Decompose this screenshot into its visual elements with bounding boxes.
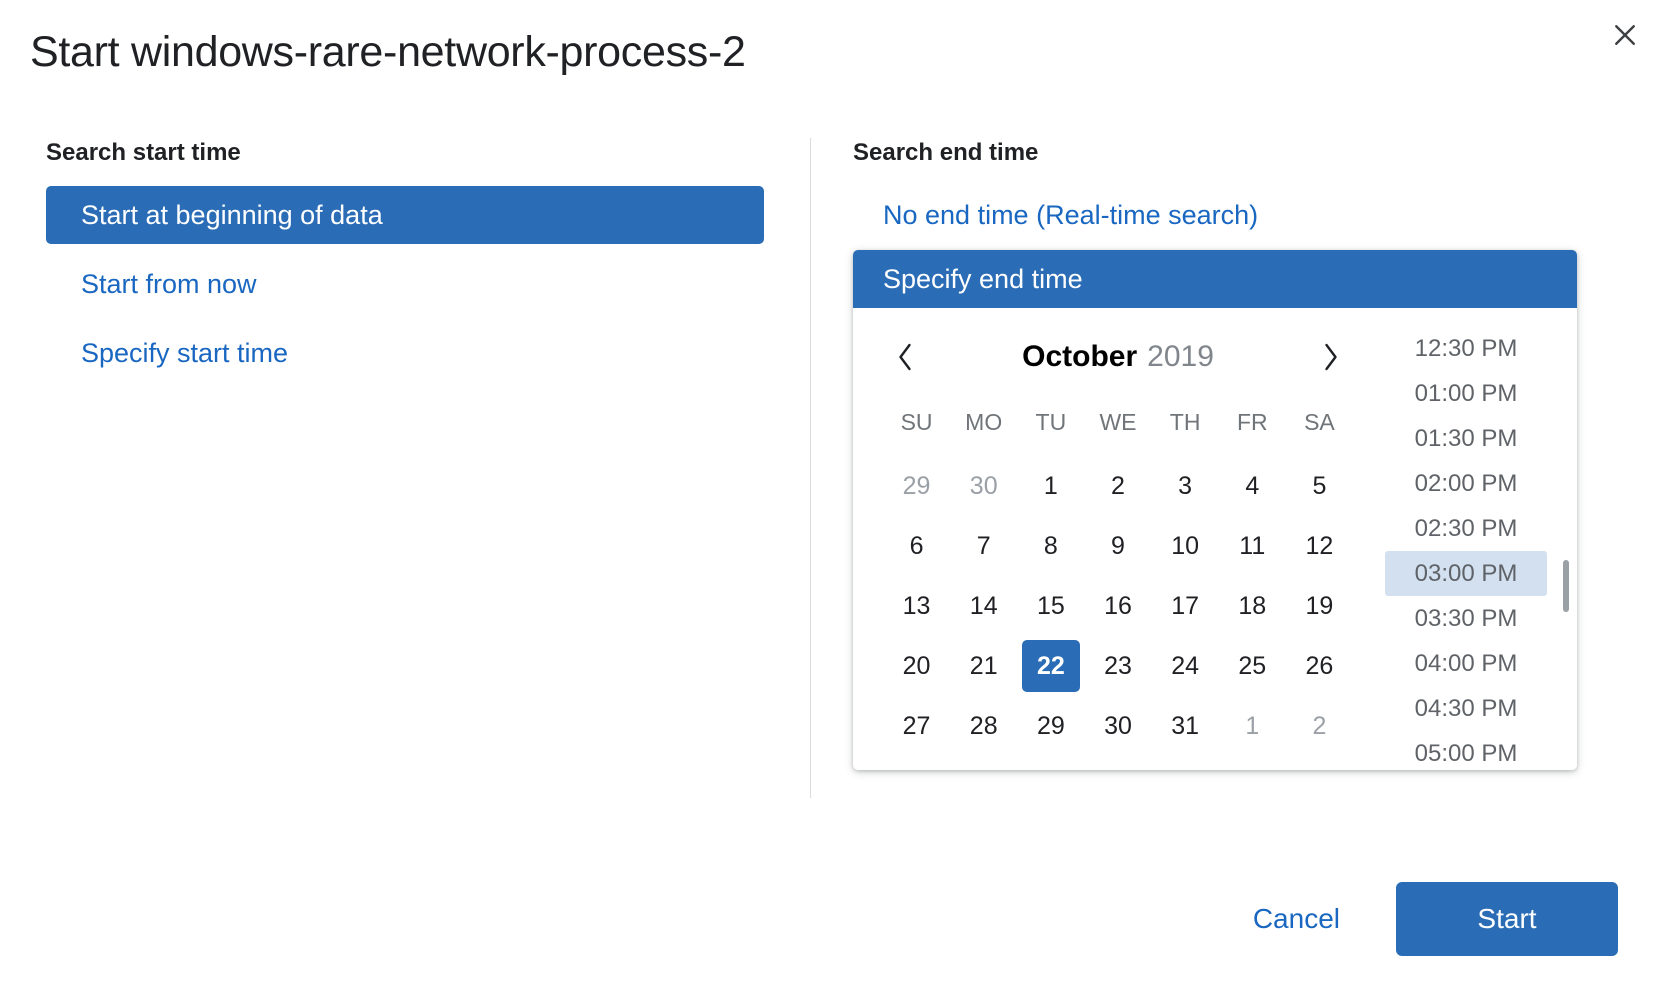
calendar-cell: 5 — [1286, 456, 1353, 516]
end-time-picker-card: Specify end time October2019 — [853, 250, 1577, 770]
search-start-time-heading: Search start time — [46, 138, 764, 168]
start-time-option-list: Start at beginning of data Start from no… — [46, 186, 764, 382]
calendar-day-29[interactable]: 29 — [888, 460, 946, 512]
calendar-cell: 17 — [1152, 576, 1219, 636]
calendar-day-31[interactable]: 31 — [1156, 700, 1214, 752]
calendar-day-26[interactable]: 26 — [1290, 640, 1348, 692]
chevron-left-icon[interactable] — [883, 335, 927, 379]
search-end-time-heading: Search end time — [853, 138, 1620, 168]
dialog-columns: Search start time Start at beginning of … — [0, 138, 1666, 818]
calendar-cell: 13 — [883, 576, 950, 636]
calendar-cell: 14 — [950, 576, 1017, 636]
calendar-day-6[interactable]: 6 — [888, 520, 946, 572]
time-list-panel: 12:30 PM01:00 PM01:30 PM02:00 PM02:30 PM… — [1367, 308, 1577, 770]
calendar-day-22[interactable]: 22 — [1022, 640, 1080, 692]
end-option-specify-end-time[interactable]: Specify end time — [853, 250, 1577, 308]
calendar-cell: 18 — [1219, 576, 1286, 636]
calendar-cell: 22 — [1017, 636, 1084, 696]
calendar-day-30[interactable]: 30 — [955, 460, 1013, 512]
calendar-month: October — [1022, 340, 1137, 373]
calendar-weekday-tu: TU — [1017, 394, 1084, 450]
calendar-cell: 8 — [1017, 516, 1084, 576]
calendar-cell: 25 — [1219, 636, 1286, 696]
calendar-weekday-sa: SA — [1286, 394, 1353, 450]
calendar-day-18[interactable]: 18 — [1223, 580, 1281, 632]
calendar-day-16[interactable]: 16 — [1089, 580, 1147, 632]
calendar-nav: October2019 — [883, 326, 1353, 388]
calendar-cell: 23 — [1084, 636, 1151, 696]
search-start-time-section: Search start time Start at beginning of … — [0, 138, 810, 818]
end-option-no-end-time[interactable]: No end time (Real-time search) — [853, 186, 1620, 244]
calendar-cell: 9 — [1084, 516, 1151, 576]
calendar-cell: 16 — [1084, 576, 1151, 636]
time-option-03-30-pm[interactable]: 03:30 PM — [1385, 596, 1547, 641]
calendar-day-2[interactable]: 2 — [1089, 460, 1147, 512]
calendar-cell: 11 — [1219, 516, 1286, 576]
calendar-cell: 29 — [883, 456, 950, 516]
calendar-weekday-row: SUMOTUWETHFRSA — [883, 394, 1353, 450]
calendar-cell: 26 — [1286, 636, 1353, 696]
calendar-day-28[interactable]: 28 — [955, 700, 1013, 752]
calendar-cell: 12 — [1286, 516, 1353, 576]
calendar-month-year: October2019 — [927, 337, 1309, 377]
calendar-weekday-th: TH — [1152, 394, 1219, 450]
chevron-right-icon[interactable] — [1309, 335, 1353, 379]
start-option-from-now[interactable]: Start from now — [46, 255, 764, 313]
calendar-day-4[interactable]: 4 — [1223, 460, 1281, 512]
close-icon[interactable] — [1602, 12, 1648, 58]
calendar-cell: 2 — [1084, 456, 1151, 516]
calendar-cell: 24 — [1152, 636, 1219, 696]
calendar-cell: 30 — [950, 456, 1017, 516]
calendar-day-20[interactable]: 20 — [888, 640, 946, 692]
calendar-year: 2019 — [1147, 340, 1214, 373]
calendar-day-grid: 2930123456789101112131415161718192021222… — [883, 456, 1353, 756]
calendar-cell: 1 — [1017, 456, 1084, 516]
calendar-day-5[interactable]: 5 — [1290, 460, 1348, 512]
calendar-day-10[interactable]: 10 — [1156, 520, 1214, 572]
calendar-cell: 3 — [1152, 456, 1219, 516]
picker-body: October2019 SUMOTUWETHFRSA 2930123456789… — [853, 308, 1577, 770]
calendar-cell: 2 — [1286, 696, 1353, 756]
calendar-day-1[interactable]: 1 — [1223, 700, 1281, 752]
time-option-02-30-pm[interactable]: 02:30 PM — [1385, 506, 1547, 551]
calendar-day-14[interactable]: 14 — [955, 580, 1013, 632]
start-button[interactable]: Start — [1396, 882, 1618, 956]
calendar-weekday-fr: FR — [1219, 394, 1286, 450]
calendar-cell: 10 — [1152, 516, 1219, 576]
time-option-05-00-pm[interactable]: 05:00 PM — [1385, 731, 1547, 770]
calendar-day-9[interactable]: 9 — [1089, 520, 1147, 572]
calendar-weekday-mo: MO — [950, 394, 1017, 450]
calendar-day-15[interactable]: 15 — [1022, 580, 1080, 632]
calendar-day-19[interactable]: 19 — [1290, 580, 1348, 632]
calendar: October2019 SUMOTUWETHFRSA 2930123456789… — [853, 308, 1367, 770]
calendar-cell: 6 — [883, 516, 950, 576]
calendar-cell: 7 — [950, 516, 1017, 576]
calendar-day-8[interactable]: 8 — [1022, 520, 1080, 572]
calendar-day-27[interactable]: 27 — [888, 700, 946, 752]
calendar-cell: 21 — [950, 636, 1017, 696]
time-option-04-00-pm[interactable]: 04:00 PM — [1385, 641, 1547, 686]
calendar-cell: 27 — [883, 696, 950, 756]
calendar-day-24[interactable]: 24 — [1156, 640, 1214, 692]
calendar-day-29[interactable]: 29 — [1022, 700, 1080, 752]
calendar-cell: 20 — [883, 636, 950, 696]
calendar-day-23[interactable]: 23 — [1089, 640, 1147, 692]
calendar-cell: 30 — [1084, 696, 1151, 756]
calendar-day-2[interactable]: 2 — [1290, 700, 1348, 752]
calendar-cell: 29 — [1017, 696, 1084, 756]
calendar-cell: 1 — [1219, 696, 1286, 756]
calendar-day-21[interactable]: 21 — [955, 640, 1013, 692]
calendar-weekday-su: SU — [883, 394, 950, 450]
calendar-cell: 19 — [1286, 576, 1353, 636]
calendar-day-3[interactable]: 3 — [1156, 460, 1214, 512]
time-option-04-30-pm[interactable]: 04:30 PM — [1385, 686, 1547, 731]
calendar-day-12[interactable]: 12 — [1290, 520, 1348, 572]
calendar-cell: 4 — [1219, 456, 1286, 516]
start-option-specify-start-time[interactable]: Specify start time — [46, 324, 764, 382]
time-option-03-00-pm[interactable]: 03:00 PM — [1385, 551, 1547, 596]
time-option-01-30-pm[interactable]: 01:30 PM — [1385, 416, 1547, 461]
calendar-day-13[interactable]: 13 — [888, 580, 946, 632]
calendar-cell: 28 — [950, 696, 1017, 756]
calendar-day-7[interactable]: 7 — [955, 520, 1013, 572]
time-option-01-00-pm[interactable]: 01:00 PM — [1385, 371, 1547, 416]
time-option-02-00-pm[interactable]: 02:00 PM — [1385, 461, 1547, 506]
time-range-dialog: Start windows-rare-network-process-2 Sea… — [0, 0, 1666, 994]
time-list: 12:30 PM01:00 PM01:30 PM02:00 PM02:30 PM… — [1367, 326, 1577, 770]
start-option-beginning-of-data[interactable]: Start at beginning of data — [46, 186, 764, 244]
dialog-footer: Cancel Start — [0, 844, 1666, 994]
calendar-cell: 15 — [1017, 576, 1084, 636]
calendar-day-30[interactable]: 30 — [1089, 700, 1147, 752]
calendar-day-1[interactable]: 1 — [1022, 460, 1080, 512]
search-end-time-section: Search end time No end time (Real-time s… — [811, 138, 1666, 818]
calendar-weekday-we: WE — [1084, 394, 1151, 450]
calendar-day-17[interactable]: 17 — [1156, 580, 1214, 632]
page-title: Start windows-rare-network-process-2 — [30, 28, 746, 77]
time-option-12-30-pm[interactable]: 12:30 PM — [1385, 326, 1547, 371]
calendar-day-11[interactable]: 11 — [1223, 520, 1281, 572]
cancel-button[interactable]: Cancel — [1227, 889, 1366, 949]
calendar-day-25[interactable]: 25 — [1223, 640, 1281, 692]
calendar-cell: 31 — [1152, 696, 1219, 756]
time-list-scrollbar[interactable] — [1563, 560, 1569, 612]
